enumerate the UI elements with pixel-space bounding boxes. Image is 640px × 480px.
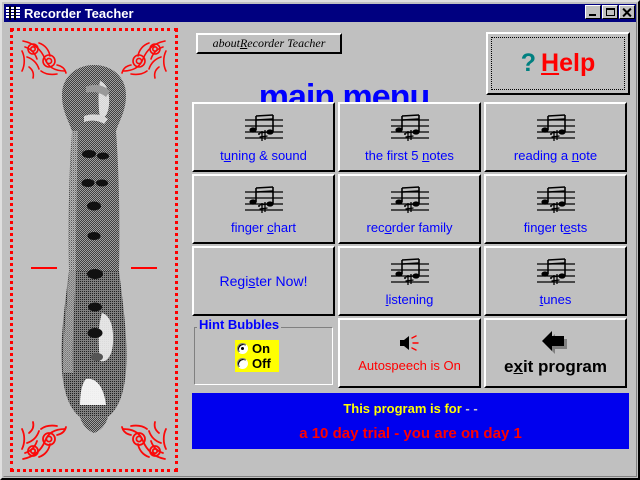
help-button-label: Help bbox=[541, 51, 595, 76]
menu-button-recorder-family[interactable]: recorder family bbox=[338, 174, 481, 244]
radio-option-on[interactable]: On bbox=[237, 341, 271, 356]
exit-program-label: exit program bbox=[504, 358, 607, 376]
about-accel-key: R bbox=[240, 36, 247, 51]
music-note-icon bbox=[388, 184, 432, 216]
banner-line-2: a 10 day trial - you are on day 1 bbox=[299, 425, 522, 442]
autospeech-toggle-button[interactable]: Autospeech is On bbox=[338, 318, 481, 388]
hint-bubbles-radio-group: On Off bbox=[235, 340, 279, 372]
menu-button-finger-chart[interactable]: finger chart bbox=[192, 174, 335, 244]
help-button[interactable]: ? Help bbox=[486, 32, 630, 95]
recorder-illustration-panel bbox=[10, 28, 178, 472]
menu-button-label: tuning & sound bbox=[220, 149, 307, 163]
autospeech-status-label: Autospeech is On bbox=[358, 359, 461, 373]
left-arrow-icon bbox=[539, 330, 573, 356]
main-content-area: about Recorder Teacher main menu ? Help bbox=[186, 28, 634, 472]
menu-button-label: listening bbox=[386, 293, 434, 307]
menu-row-2: finger chart recorder family bbox=[192, 174, 629, 244]
recorder-instrument-image bbox=[40, 61, 148, 451]
music-note-icon bbox=[388, 112, 432, 144]
menu-button-label: recorder family bbox=[367, 221, 453, 235]
menu-button-the-first-5-notes[interactable]: the first 5 notes bbox=[338, 102, 481, 172]
menu-button-label: finger tests bbox=[524, 221, 588, 235]
title-bar[interactable]: Recorder Teacher bbox=[4, 4, 636, 22]
music-note-icon bbox=[242, 184, 286, 216]
music-note-icon bbox=[534, 112, 578, 144]
radio-off-label: Off bbox=[252, 357, 271, 370]
menu-row-3: Register Now! listening bbox=[192, 246, 629, 316]
help-accel-key: H bbox=[541, 49, 559, 77]
menu-button-register-now[interactable]: Register Now! bbox=[192, 246, 335, 316]
menu-button-label: finger chart bbox=[231, 221, 296, 235]
radio-on-icon[interactable] bbox=[237, 343, 248, 354]
close-button[interactable] bbox=[619, 5, 635, 19]
exit-program-button[interactable]: exit program bbox=[484, 318, 627, 388]
hint-bubbles-legend: Hint Bubbles bbox=[197, 318, 281, 332]
speaker-sound-icon bbox=[397, 333, 423, 353]
about-text-after: ecorder Teacher bbox=[247, 36, 325, 51]
menu-button-listening[interactable]: listening bbox=[338, 246, 481, 316]
menu-row-1: tuning & sound the first 5 notes bbox=[192, 102, 629, 172]
trial-status-banner: This program is for - - a 10 day trial -… bbox=[192, 393, 629, 449]
radio-option-off[interactable]: Off bbox=[237, 356, 271, 371]
menu-button-label: Register Now! bbox=[220, 274, 308, 288]
maximize-button[interactable] bbox=[602, 5, 618, 19]
menu-button-finger-tests[interactable]: finger tests bbox=[484, 174, 627, 244]
hint-bubbles-group: Hint Bubbles On Off bbox=[192, 318, 335, 388]
menu-button-grid: tuning & sound the first 5 notes bbox=[192, 102, 629, 390]
menu-button-reading-a-note[interactable]: reading a note bbox=[484, 102, 627, 172]
recorder-app-icon bbox=[5, 6, 21, 20]
help-label-after: elp bbox=[559, 49, 595, 77]
application-window: Recorder Teacher bbox=[0, 0, 640, 480]
menu-button-label: tunes bbox=[540, 293, 572, 307]
radio-on-label: On bbox=[252, 342, 270, 355]
music-note-icon bbox=[242, 112, 286, 144]
red-pointer-tick-left bbox=[31, 267, 57, 269]
menu-button-tunes[interactable]: tunes bbox=[484, 246, 627, 316]
window-title: Recorder Teacher bbox=[24, 6, 134, 21]
radio-off-icon[interactable] bbox=[237, 358, 248, 369]
about-text-before: about bbox=[213, 36, 240, 51]
question-mark-icon: ? bbox=[521, 51, 536, 76]
music-note-icon bbox=[534, 184, 578, 216]
menu-button-tuning-and-sound[interactable]: tuning & sound bbox=[192, 102, 335, 172]
banner-line-1: This program is for - - bbox=[343, 401, 477, 417]
music-note-icon bbox=[534, 256, 578, 288]
menu-button-label: the first 5 notes bbox=[365, 149, 454, 163]
menu-row-4: Hint Bubbles On Off bbox=[192, 318, 629, 388]
minimize-button[interactable] bbox=[585, 5, 601, 19]
title-bar-buttons bbox=[584, 5, 635, 19]
about-recorder-teacher-button[interactable]: about Recorder Teacher bbox=[196, 33, 342, 54]
red-pointer-tick-right bbox=[131, 267, 157, 269]
music-note-icon bbox=[388, 256, 432, 288]
help-focus-outline: ? Help bbox=[491, 37, 625, 90]
menu-button-label: reading a note bbox=[514, 149, 597, 163]
